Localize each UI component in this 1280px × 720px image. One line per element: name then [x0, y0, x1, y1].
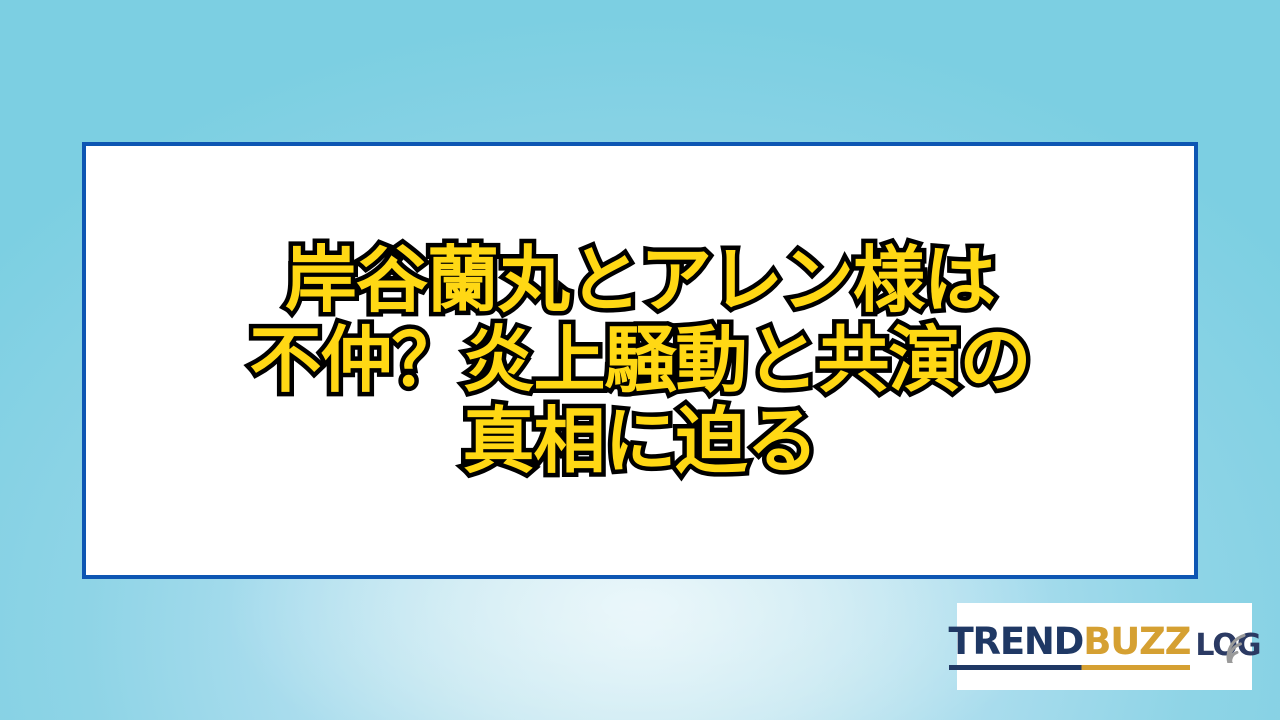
wifi-signal-icon — [1225, 633, 1259, 663]
headline-line-2: 不仲？炎上騒動と共演の — [86, 320, 1194, 401]
brand-wordmark: TRENDBUZZ — [949, 623, 1191, 670]
brand-logo: TRENDBUZZ LOG — [945, 623, 1265, 670]
brand-logo-badge[interactable]: TRENDBUZZ LOG — [957, 603, 1252, 690]
brand-word-buzz: BUZZ — [1083, 620, 1190, 663]
brand-wordmark-text: TRENDBUZZ — [949, 623, 1191, 660]
brand-word-trend: TREND — [949, 620, 1084, 663]
headline-text: 岸谷蘭丸とアレン様は 不仲？炎上騒動と共演の 真相に迫る — [86, 240, 1194, 482]
slide-canvas: 岸谷蘭丸とアレン様は 不仲？炎上騒動と共演の 真相に迫る TRENDBUZZ L… — [0, 0, 1280, 720]
title-card: 岸谷蘭丸とアレン様は 不仲？炎上騒動と共演の 真相に迫る — [82, 142, 1198, 579]
headline-line-1: 岸谷蘭丸とアレン様は — [86, 240, 1194, 321]
headline-line-3: 真相に迫る — [86, 401, 1194, 482]
brand-underline-rule — [949, 665, 1191, 670]
